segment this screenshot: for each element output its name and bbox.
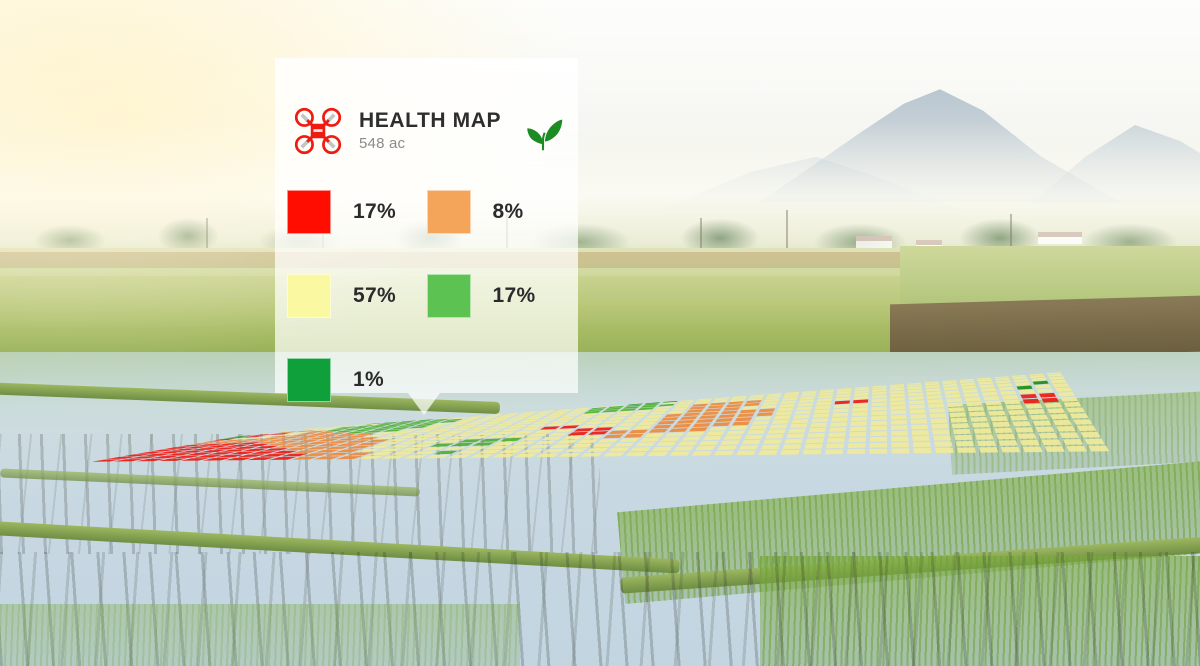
drone-icon xyxy=(289,102,347,160)
green-plot xyxy=(900,246,1200,304)
health-legend: 17% 8% 57% 17% xyxy=(275,170,578,422)
field-photo-background xyxy=(0,0,1200,666)
legend-item-dark-green[interactable]: 1% xyxy=(287,358,427,402)
legend-yellow-value: 57% xyxy=(353,284,396,308)
legend-light-green-value: 17% xyxy=(493,284,536,308)
legend-item-light-green[interactable]: 17% xyxy=(427,274,567,318)
legend-yellow xyxy=(287,274,331,318)
legend-orange xyxy=(427,190,471,234)
building xyxy=(1038,232,1082,244)
legend-item-orange[interactable]: 8% xyxy=(427,190,567,234)
plowed-plot xyxy=(890,296,1200,361)
legend-dark-green-value: 1% xyxy=(353,368,384,392)
legend-light-green xyxy=(427,274,471,318)
legend-row: 57% 17% xyxy=(287,254,566,338)
panel-header: HEALTH MAP 548 ac xyxy=(275,96,578,166)
field-area-label: 548 ac xyxy=(359,135,522,152)
legend-red-value: 17% xyxy=(353,200,396,224)
legend-red xyxy=(287,190,331,234)
grass-band xyxy=(948,391,1200,475)
page-title: HEALTH MAP xyxy=(359,110,522,132)
health-map-panel: HEALTH MAP 548 ac 17% 8% xyxy=(275,58,578,393)
leaf-sprout-icon xyxy=(522,110,564,152)
screenshot-stage: HEALTH MAP 548 ac 17% 8% xyxy=(0,0,1200,666)
legend-item-yellow[interactable]: 57% xyxy=(287,274,427,318)
legend-row: 17% 8% xyxy=(287,170,566,254)
legend-orange-value: 8% xyxy=(493,200,524,224)
panel-pointer-tail xyxy=(408,393,440,415)
legend-item-red[interactable]: 17% xyxy=(287,190,427,234)
panel-titles: HEALTH MAP 548 ac xyxy=(359,110,522,152)
grass-band xyxy=(0,604,520,666)
legend-dark-green xyxy=(287,358,331,402)
